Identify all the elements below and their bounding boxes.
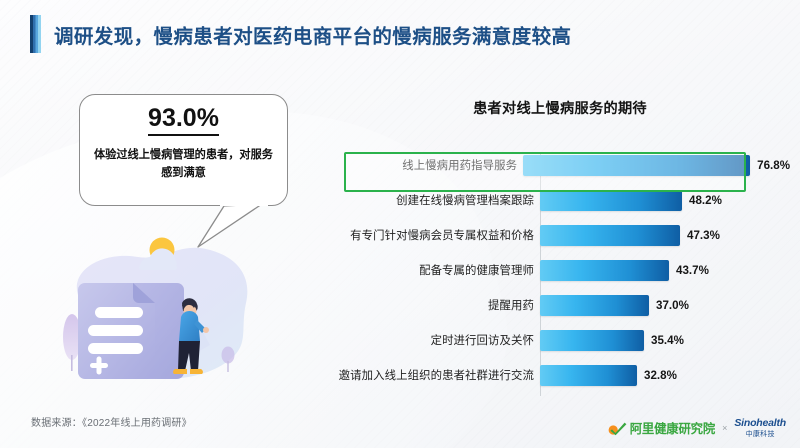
bar-fill <box>540 190 682 211</box>
bar-chart: 线上慢病用药指导服务76.8%创建在线慢病管理档案跟踪48.2%有专门针对慢病会… <box>300 148 790 398</box>
tree-right <box>222 347 235 373</box>
alihealth-check-icon <box>608 421 627 436</box>
title-text: 调研发现，慢病患者对医药电商平台的慢病服务满意度较高 <box>54 20 571 49</box>
alihealth-logo-text: 阿里健康研究院 <box>630 419 715 437</box>
bar-category-label: 提醒用药 <box>300 297 540 313</box>
sinohealth-logo: Sinohealth 中康科技 <box>734 418 786 438</box>
chart-title: 患者对线上慢病服务的期待 <box>420 98 700 118</box>
sun-cloud-icon <box>139 238 177 271</box>
alihealth-logo: 阿里健康研究院 <box>608 419 715 437</box>
bar-value-label: 76.8% <box>757 159 790 172</box>
bar-row: 定时进行回访及关怀35.4% <box>300 329 790 351</box>
bar-track: 43.7% <box>540 259 790 281</box>
footer-logos: 阿里健康研究院 × Sinohealth 中康科技 <box>608 417 786 439</box>
logo-separator: × <box>722 423 727 433</box>
bar-category-label: 有专门针对慢病会员专属权益和价格 <box>300 227 540 243</box>
bar-track: 37.0% <box>540 294 790 316</box>
bar-category-label: 定时进行回访及关怀 <box>300 332 540 348</box>
bar-value-label: 37.0% <box>656 299 689 312</box>
bar-row: 线上慢病用药指导服务76.8% <box>300 154 790 176</box>
slide-canvas: 调研发现，慢病患者对医药电商平台的慢病服务满意度较高 93.0% 体验过线上慢病… <box>0 0 800 448</box>
bar-value-label: 48.2% <box>689 194 722 207</box>
bar-category-label: 线上慢病用药指导服务 <box>300 157 523 173</box>
bar-row: 配备专属的健康管理师43.7% <box>300 259 790 281</box>
document-line <box>95 307 143 318</box>
bar-value-label: 32.8% <box>644 369 677 382</box>
bar-track: 48.2% <box>540 189 790 211</box>
bar-fill <box>540 295 649 316</box>
bar-value-label: 35.4% <box>651 334 684 347</box>
page-title: 调研发现，慢病患者对医药电商平台的慢病服务满意度较高 <box>30 14 571 54</box>
bar-fill <box>540 365 637 386</box>
bar-row: 邀请加入线上组织的患者社群进行交流32.8% <box>300 364 790 386</box>
bar-track: 47.3% <box>540 224 790 246</box>
bar-fill <box>540 260 669 281</box>
document-line <box>88 343 143 354</box>
bar-category-label: 配备专属的健康管理师 <box>300 262 540 278</box>
bar-value-label: 47.3% <box>687 229 720 242</box>
bar-category-label: 创建在线慢病管理档案跟踪 <box>300 192 540 208</box>
bar-fill <box>523 155 750 176</box>
sinohealth-logo-en: Sinohealth <box>734 418 786 429</box>
bar-row: 有专门针对慢病会员专属权益和价格47.3% <box>300 224 790 246</box>
callout-description: 体验过线上慢病管理的患者，对服务感到满意 <box>93 146 275 182</box>
illustration-online-health-record <box>60 225 300 410</box>
sinohealth-logo-cn: 中康科技 <box>746 431 775 438</box>
bar-value-label: 43.7% <box>676 264 709 277</box>
bar-track: 35.4% <box>540 329 790 351</box>
bar-category-label: 邀请加入线上组织的患者社群进行交流 <box>300 367 540 383</box>
bar-fill <box>540 225 680 246</box>
callout-bubble: 93.0% 体验过线上慢病管理的患者，对服务感到满意 <box>79 94 288 206</box>
bar-row: 创建在线慢病管理档案跟踪48.2% <box>300 189 790 211</box>
bar-track: 76.8% <box>523 154 790 176</box>
source-note: 数据来源：《2022年线上用药调研》 <box>31 414 192 429</box>
title-accent-bar <box>30 15 41 53</box>
bar-row: 提醒用药37.0% <box>300 294 790 316</box>
bar-fill <box>540 330 644 351</box>
callout-percent: 93.0% <box>148 105 219 136</box>
bar-track: 32.8% <box>540 364 790 386</box>
document-line <box>88 325 143 336</box>
